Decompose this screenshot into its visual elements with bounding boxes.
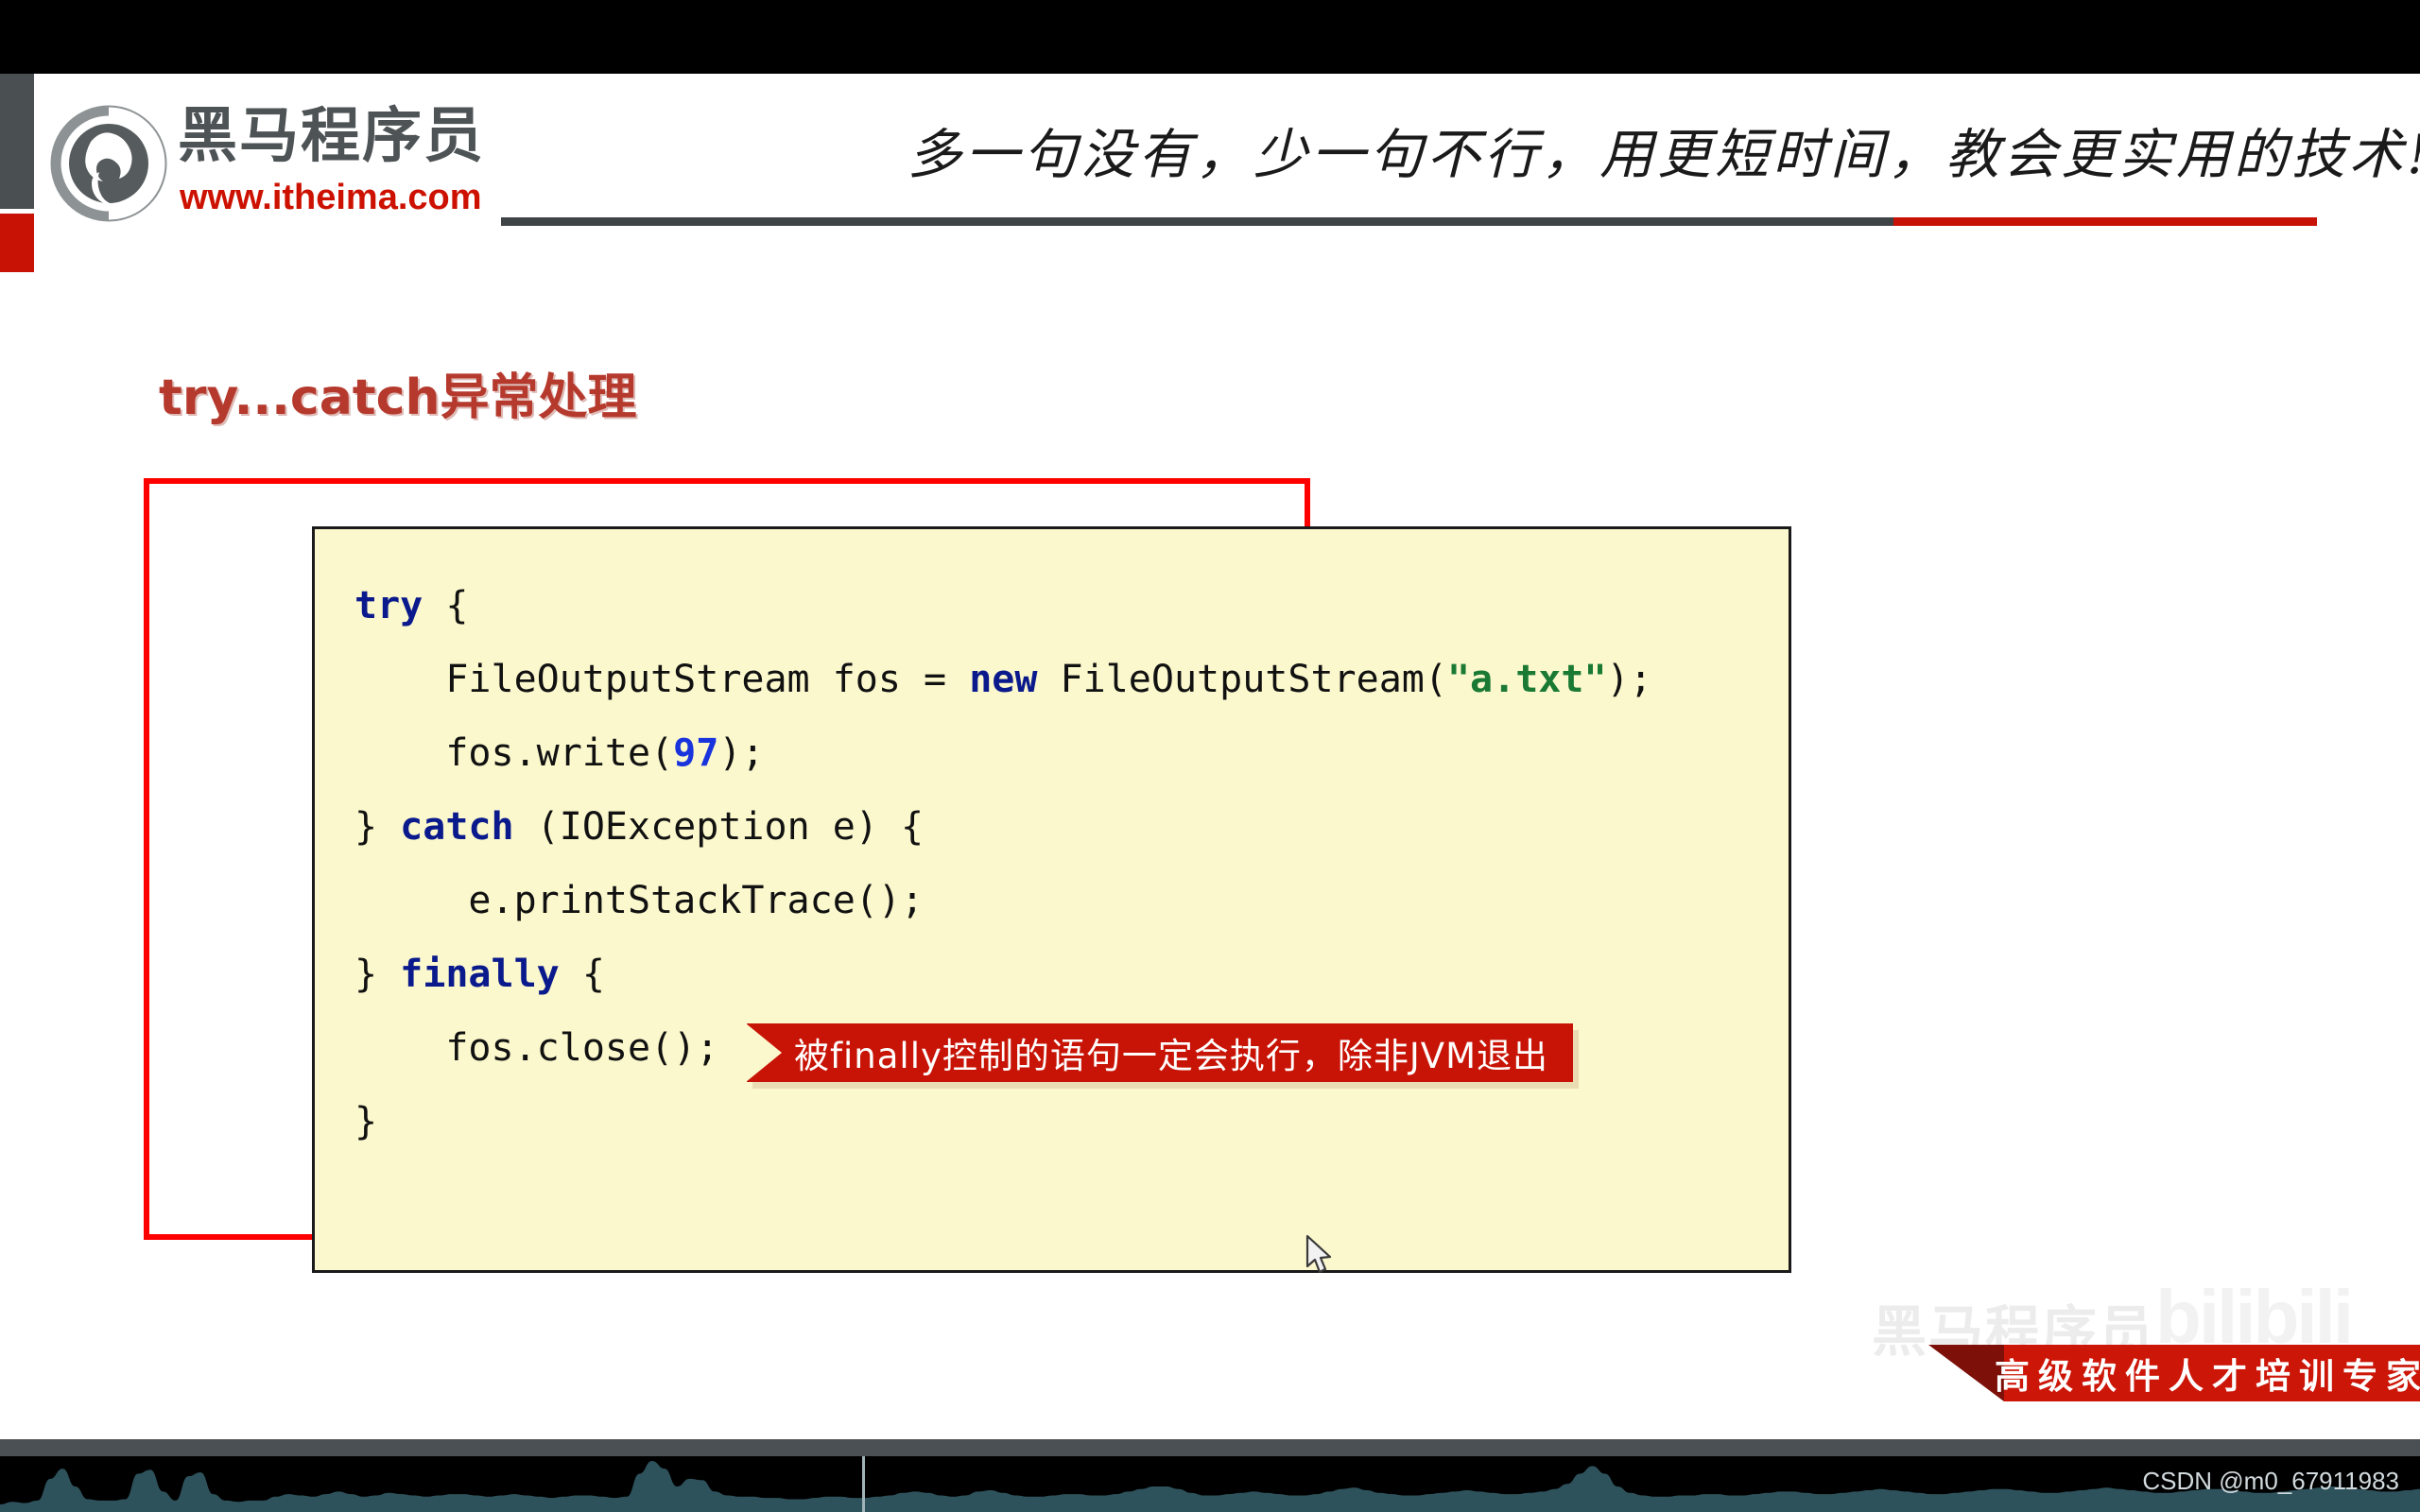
code-line: } catch (IOException e) { — [354, 790, 1772, 864]
code-token-kw: catch — [400, 805, 513, 849]
left-gray-accent-bar — [0, 74, 34, 209]
player-top-letterbox — [0, 0, 2420, 74]
footer-banner: 高级软件人才培训专家 — [1928, 1345, 2420, 1401]
csdn-credit: CSDN @m0_67911983 — [2142, 1467, 2399, 1496]
footer-banner-fold — [1928, 1345, 2004, 1401]
player-waveform[interactable] — [0, 1456, 2420, 1512]
footer-banner-body: 高级软件人才培训专家 — [2004, 1345, 2420, 1401]
waveform-graphic — [0, 1456, 2420, 1512]
header-rule-red — [1893, 217, 2317, 226]
player-playhead[interactable] — [862, 1456, 865, 1512]
mouse-arrow-cursor — [1305, 1234, 1334, 1276]
callout-body: 被finally控制的语句一定会执行，除非JVM退出 — [747, 1023, 1573, 1082]
finally-callout: 被finally控制的语句一定会执行，除非JVM退出 — [747, 1023, 1573, 1082]
code-line: FileOutputStream fos = new FileOutputStr… — [354, 643, 1772, 716]
code-line: e.printStackTrace(); — [354, 864, 1772, 937]
brand-url: www.itheima.com — [180, 180, 482, 215]
left-red-accent-bar — [0, 214, 34, 272]
code-token-kw: finally — [400, 953, 560, 996]
callout-text: 被finally控制的语句一定会执行，除非JVM退出 — [794, 1027, 1548, 1078]
code-line: } — [354, 1085, 1772, 1159]
code-token-num: 97 — [673, 731, 718, 775]
code-line: } finally { — [354, 937, 1772, 1011]
brand-name-cn: 黑马程序员 — [178, 106, 485, 165]
brand-logo: 黑马程序员 www.itheima.com — [49, 100, 493, 228]
code-token-str: "a.txt" — [1447, 658, 1607, 701]
player-progress-played[interactable] — [0, 1439, 482, 1456]
code-token-kw: try — [354, 584, 423, 627]
header-rule-gray — [501, 217, 1895, 226]
callout-arrow-notch — [746, 1023, 782, 1082]
code-line: fos.write(97); — [354, 716, 1772, 790]
horse-head-in-circle-icon — [49, 104, 168, 223]
video-player: 黑马程序员 www.itheima.com 多一句没有，少一句不行，用更短时间，… — [0, 0, 2420, 1512]
code-token-kw: new — [969, 658, 1037, 701]
brand-tagline: 多一句没有，少一句不行，用更短时间，教会更实用的技术! — [907, 112, 2325, 189]
code-panel: try { FileOutputStream fos = new FileOut… — [312, 526, 1791, 1273]
page-title: try...catch异常处理 — [159, 357, 637, 428]
slide-canvas: 黑马程序员 www.itheima.com 多一句没有，少一句不行，用更短时间，… — [0, 74, 2420, 1439]
footer-banner-text: 高级软件人才培训专家 — [1995, 1348, 2420, 1399]
code-line: try { — [354, 569, 1772, 643]
